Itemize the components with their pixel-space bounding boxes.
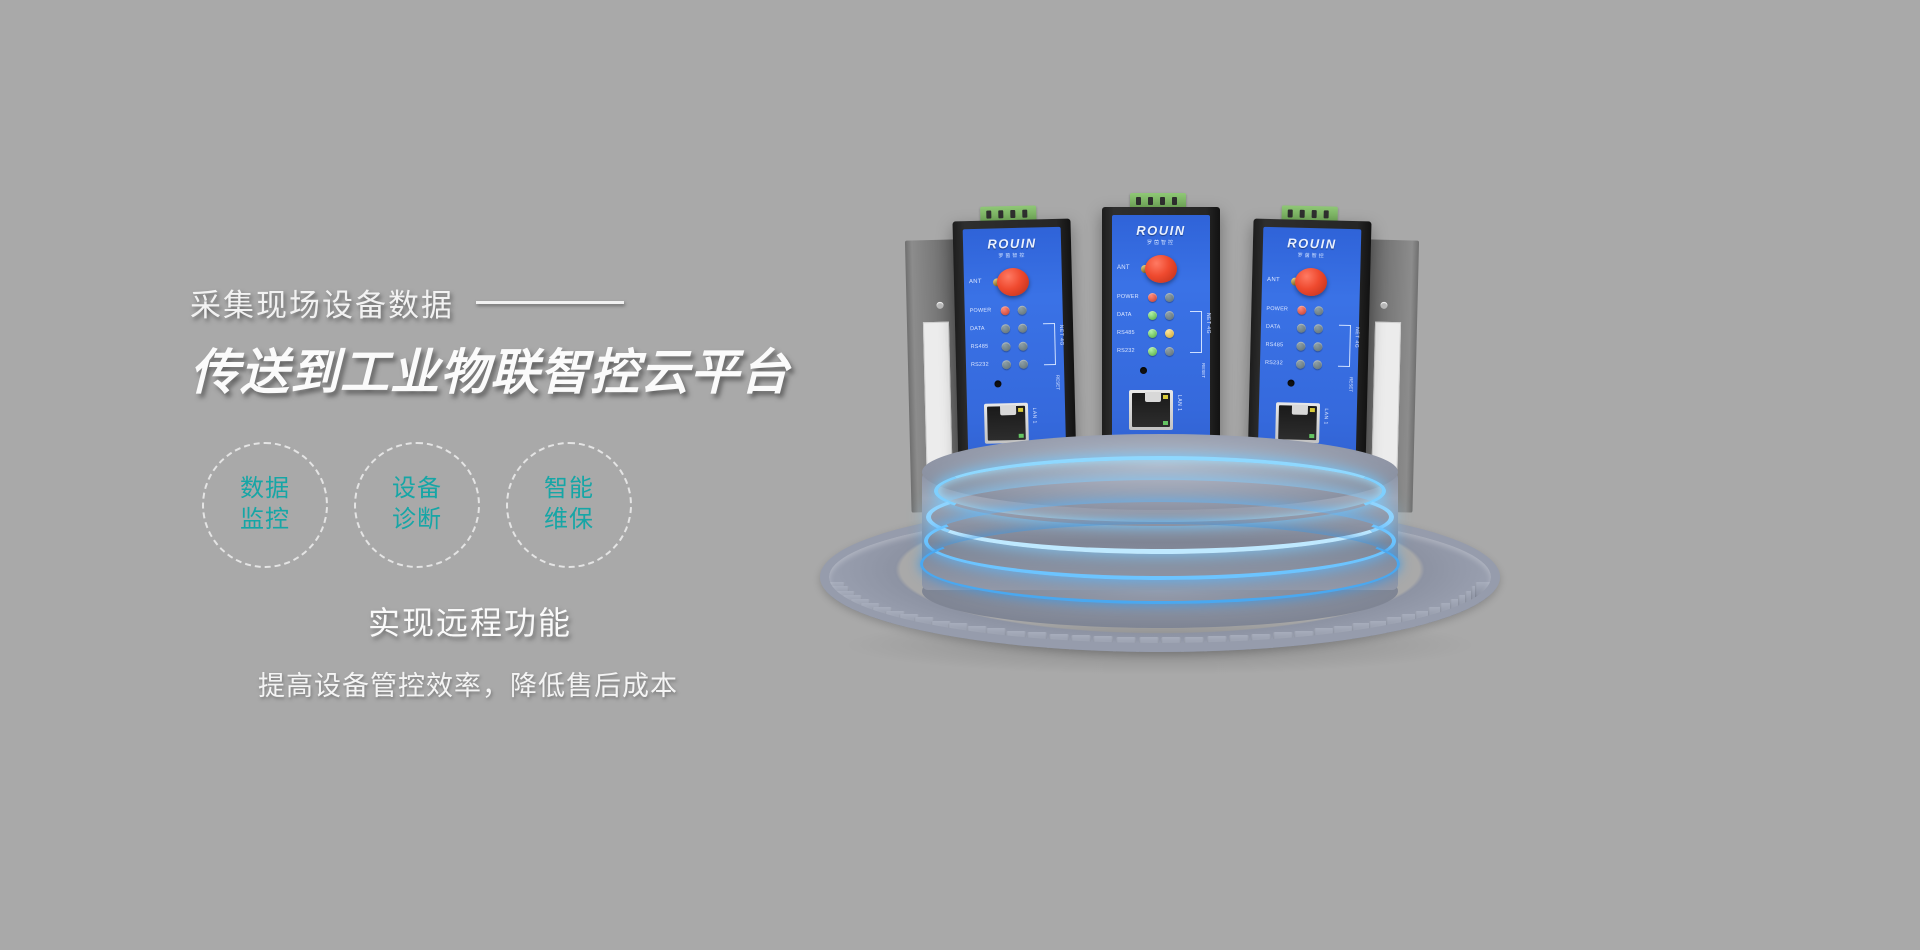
device-side-screw (1380, 302, 1387, 309)
antenna-label: ANT (1117, 265, 1130, 271)
led-indicator (1314, 306, 1323, 315)
antenna-jack (1295, 268, 1328, 297)
badge-line-2: 诊断 (392, 505, 442, 536)
net-bracket (1190, 311, 1202, 353)
led-indicator (1296, 342, 1305, 351)
pedestal-top (922, 434, 1398, 510)
led-label: RS485 (1117, 330, 1135, 336)
led-indicator (1001, 306, 1010, 315)
reset-label: RESET (1201, 363, 1206, 378)
feature-badge-data-monitoring: 数据 监控 (202, 442, 328, 568)
device-side-screw (936, 302, 943, 309)
reset-button[interactable] (1287, 379, 1294, 386)
led-row-power: POWER (1117, 293, 1209, 304)
led-indicator (1296, 360, 1305, 369)
led-label: DATA (1117, 312, 1132, 318)
led-indicator (1002, 360, 1011, 369)
rj45-ethernet-port (1129, 390, 1173, 430)
antenna-label: ANT (969, 279, 982, 285)
rj45-link-led (1018, 408, 1023, 412)
rj45-ethernet-port (1275, 402, 1320, 443)
eyebrow-rule-divider (476, 301, 624, 304)
brand-logo-cn: 罗茵智控 (1112, 239, 1210, 246)
led-row-power: POWER (970, 305, 1062, 318)
marketing-copy-block: 采集现场设备数据 传送到工业物联智控云平台 数据 监控 设备 诊断 智能 维保 … (190, 280, 870, 703)
brand-logo-cn: 罗茵智控 (963, 251, 1061, 260)
led-label: RS232 (971, 362, 989, 368)
led-indicator (1165, 293, 1174, 302)
net-bracket (1043, 323, 1056, 365)
feature-badge-group: 数据 监控 设备 诊断 智能 维保 (190, 442, 870, 568)
antenna-label: ANT (1267, 277, 1280, 283)
led-label: RS232 (1117, 348, 1135, 354)
feature-badge-smart-maintenance: 智能 维保 (506, 442, 632, 568)
product-banner: 采集现场设备数据 传送到工业物联智控云平台 数据 监控 设备 诊断 智能 维保 … (0, 0, 1920, 950)
led-indicator (1148, 293, 1157, 302)
badge-line-1: 数据 (240, 474, 290, 505)
led-indicator (1165, 347, 1174, 356)
led-label: RS485 (1265, 342, 1283, 348)
product-scene: ROUIN 罗茵智控 ANT POWER DATA (810, 195, 1540, 665)
led-indicator (1313, 342, 1322, 351)
led-indicator (1018, 306, 1027, 315)
brand-logo: ROUIN (1112, 223, 1210, 238)
led-label: DATA (970, 326, 985, 332)
badge-line-2: 维保 (544, 505, 594, 536)
eyebrow-row: 采集现场设备数据 (190, 280, 870, 325)
net-label: NET 4G (1058, 325, 1065, 346)
reset-button[interactable] (994, 380, 1001, 387)
sub-description-text: 提高设备管控效率，降低售后成本 (208, 664, 728, 703)
led-indicator (1313, 360, 1322, 369)
rj45-activity-led (1019, 434, 1024, 438)
lan-label: LAN 1 (1323, 408, 1329, 425)
reset-button[interactable] (1140, 367, 1147, 374)
led-label: DATA (1266, 324, 1281, 330)
led-indicator (1148, 347, 1157, 356)
sub-title-text: 实现远程功能 (230, 598, 710, 644)
led-indicator (1297, 306, 1306, 315)
lan-label: LAN 1 (1031, 407, 1037, 424)
rj45-link-led (1310, 408, 1315, 412)
headline-text: 传送到工业物联智控云平台 (190, 333, 870, 404)
led-indicator (1018, 324, 1027, 333)
rj45-link-led (1163, 395, 1168, 399)
rj45-activity-led (1163, 421, 1168, 425)
led-indicator (1018, 342, 1027, 351)
led-indicator (1019, 360, 1028, 369)
net-label: NET 4G (1353, 327, 1360, 348)
led-label: POWER (1266, 306, 1288, 313)
led-indicator (1001, 342, 1010, 351)
reset-label: RESET (1055, 375, 1060, 390)
led-indicator (1165, 329, 1174, 338)
lan-label: LAN 1 (1176, 395, 1182, 411)
led-label: RS485 (970, 344, 988, 350)
led-label: POWER (970, 308, 992, 315)
brand-logo: ROUIN (1263, 235, 1361, 252)
net-bracket (1338, 325, 1351, 367)
net-label: NET 4G (1205, 313, 1211, 334)
display-pedestal (810, 450, 1510, 660)
rj45-ethernet-port (984, 403, 1029, 444)
led-row-power: POWER (1266, 305, 1358, 318)
badge-line-2: 监控 (240, 505, 290, 536)
led-label: POWER (1117, 294, 1139, 300)
feature-badge-device-diagnostics: 设备 诊断 (354, 442, 480, 568)
badge-line-1: 设备 (392, 474, 442, 505)
brand-logo-cn: 罗茵智控 (1263, 251, 1361, 260)
led-label: RS232 (1265, 360, 1283, 366)
led-indicator (1314, 324, 1323, 333)
rj45-activity-led (1309, 434, 1314, 438)
antenna-jack (997, 268, 1030, 297)
led-indicator (1001, 324, 1010, 333)
brand-logo: ROUIN (963, 235, 1061, 252)
led-indicator (1148, 311, 1157, 320)
antenna-jack (1145, 255, 1177, 283)
sub-copy-block: 实现远程功能 提高设备管控效率，降低售后成本 (190, 598, 870, 703)
reset-label: RESET (1348, 377, 1353, 392)
led-indicator (1165, 311, 1174, 320)
led-indicator (1297, 324, 1306, 333)
badge-line-1: 智能 (544, 474, 594, 505)
led-indicator (1148, 329, 1157, 338)
eyebrow-text: 采集现场设备数据 (190, 280, 454, 325)
